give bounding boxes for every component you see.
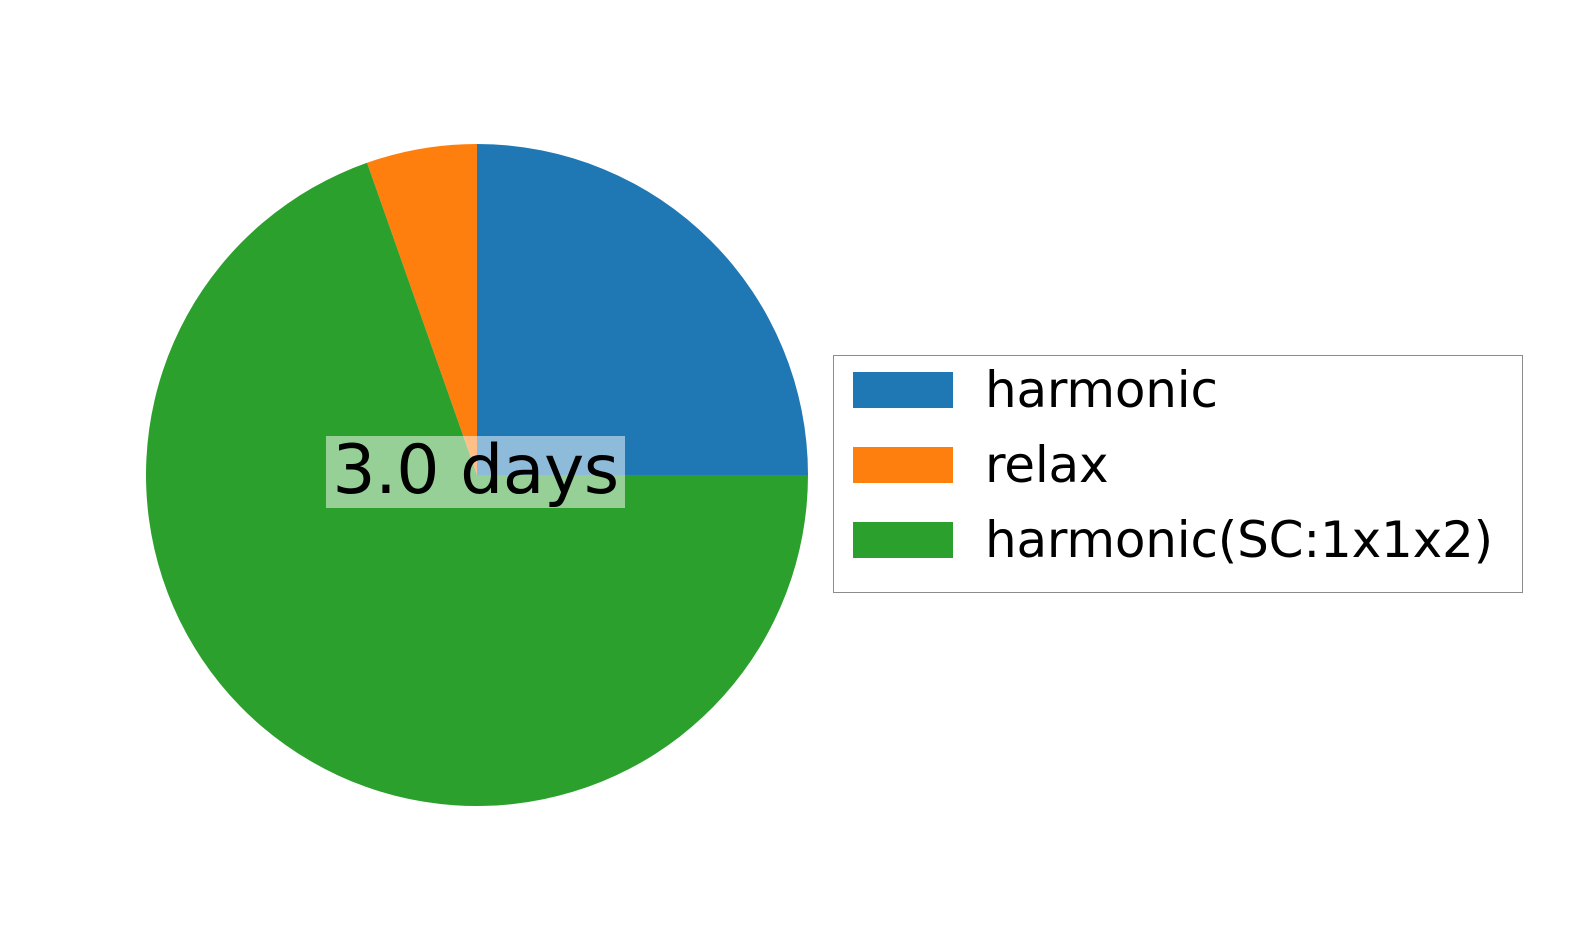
- legend-label-harmonic-sc: harmonic(SC:1x1x2): [985, 515, 1493, 565]
- legend-item-harmonic: harmonic: [853, 360, 1218, 420]
- chart-legend: harmonic relax harmonic(SC:1x1x2): [833, 355, 1523, 593]
- legend-label-relax: relax: [985, 440, 1108, 490]
- legend-swatch-harmonic-sc: [853, 522, 953, 558]
- legend-item-harmonic-sc: harmonic(SC:1x1x2): [853, 510, 1493, 570]
- pie-chart-figure: 3.0 days harmonic relax harmonic(SC:1x1x…: [0, 0, 1584, 951]
- legend-item-relax: relax: [853, 435, 1108, 495]
- pie-center-label: 3.0 days: [326, 436, 625, 508]
- legend-swatch-harmonic: [853, 372, 953, 408]
- legend-swatch-relax: [853, 447, 953, 483]
- legend-label-harmonic: harmonic: [985, 365, 1218, 415]
- pie-center-label-text: 3.0 days: [332, 437, 618, 505]
- pie-slice: [477, 144, 808, 475]
